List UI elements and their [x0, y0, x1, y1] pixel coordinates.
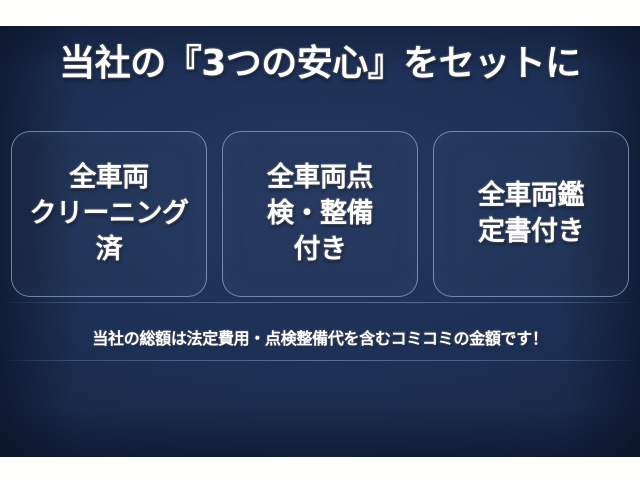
feature-box-label: 全車両点 検・整備 付き [267, 160, 373, 268]
feature-box-inspection: 全車両点 検・整備 付き [222, 131, 418, 297]
footnote-text: 当社の総額は法定費用・点検整備代を含むコミコミの金額です！ [0, 328, 640, 350]
divider-above-footnote [0, 302, 640, 303]
feature-box-cleaning: 全車両 クリーニング 済 [11, 131, 207, 297]
feature-box-label: 全車両鑑 定書付き [478, 178, 584, 250]
feature-box-appraisal: 全車両鑑 定書付き [433, 131, 629, 297]
letterbox-band-top [0, 0, 640, 26]
feature-box-group: 全車両 クリーニング 済 全車両点 検・整備 付き 全車両鑑 定書付き [11, 131, 629, 297]
feature-box-label: 全車両 クリーニング 済 [30, 160, 189, 268]
divider-below-footnote [0, 360, 640, 361]
slide-panel: 当社の『3つの安心』をセットに 全車両 クリーニング 済 全車両点 検・整備 付… [0, 26, 640, 457]
slide-canvas: 当社の『3つの安心』をセットに 全車両 クリーニング 済 全車両点 検・整備 付… [0, 0, 640, 480]
page-title: 当社の『3つの安心』をセットに [0, 42, 640, 86]
letterbox-band-bottom [0, 457, 640, 480]
